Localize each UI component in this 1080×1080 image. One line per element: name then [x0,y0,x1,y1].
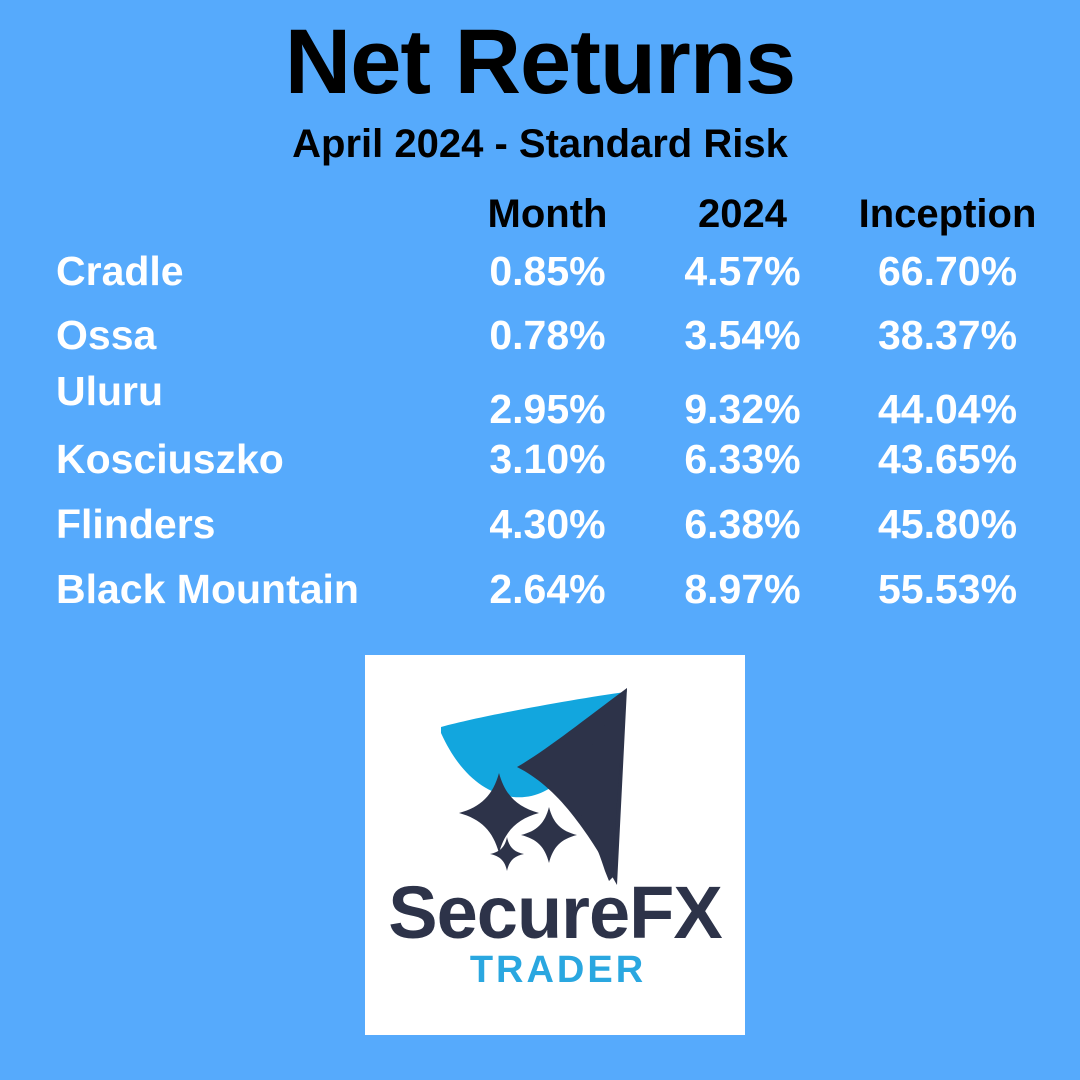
page-title: Net Returns [0,14,1080,111]
securefx-logo: SecureFX TRADER [365,655,745,1035]
row-value-year: 6.38% [650,501,835,548]
brand-tagline: TRADER [470,949,646,991]
row-value-year: 8.97% [650,566,835,613]
row-label: Cradle [56,248,184,295]
row-label: Kosciuszko [56,436,284,483]
row-value-month: 2.95% [440,386,655,433]
table-row: Kosciuszko 3.10% 6.33% 43.65% [0,436,1080,500]
row-value-month: 0.78% [440,312,655,359]
table-row: Cradle 0.85% 4.57% 66.70% [0,248,1080,312]
row-value-month: 2.64% [440,566,655,613]
brand-logo-card: SecureFX TRADER [365,655,745,1035]
row-value-year: 3.54% [650,312,835,359]
row-value-inception: 55.53% [830,566,1065,613]
row-value-year: 4.57% [650,248,835,295]
brand-name: SecureFX [388,871,722,954]
column-header-inception: Inception [830,192,1065,237]
row-value-month: 0.85% [440,248,655,295]
column-header-month: Month [440,192,655,237]
row-value-inception: 66.70% [830,248,1065,295]
row-value-inception: 45.80% [830,501,1065,548]
poster-canvas: Net Returns April 2024 - Standard Risk M… [0,0,1080,1080]
row-value-year: 6.33% [650,436,835,483]
row-value-month: 3.10% [440,436,655,483]
row-label: Ossa [56,312,156,359]
returns-table: Month 2024 Inception Cradle 0.85% 4.57% … [0,186,1080,636]
row-label: Black Mountain [56,566,359,613]
row-label: Flinders [56,501,215,548]
page-subtitle: April 2024 - Standard Risk [0,122,1080,166]
table-row: Ossa 0.78% 3.54% 38.37% [0,312,1080,376]
row-value-inception: 44.04% [830,386,1065,433]
row-value-year: 9.32% [650,386,835,433]
table-row: Uluru 2.95% 9.32% 44.04% [0,368,1080,432]
row-label: Uluru [56,368,163,415]
row-value-inception: 43.65% [830,436,1065,483]
sparkle-small-icon [490,837,524,871]
column-header-year: 2024 [650,192,835,237]
table-row: Flinders 4.30% 6.38% 45.80% [0,501,1080,565]
table-header-row: Month 2024 Inception [0,186,1080,242]
row-value-inception: 38.37% [830,312,1065,359]
table-row: Black Mountain 2.64% 8.97% 55.53% [0,566,1080,630]
row-value-month: 4.30% [440,501,655,548]
